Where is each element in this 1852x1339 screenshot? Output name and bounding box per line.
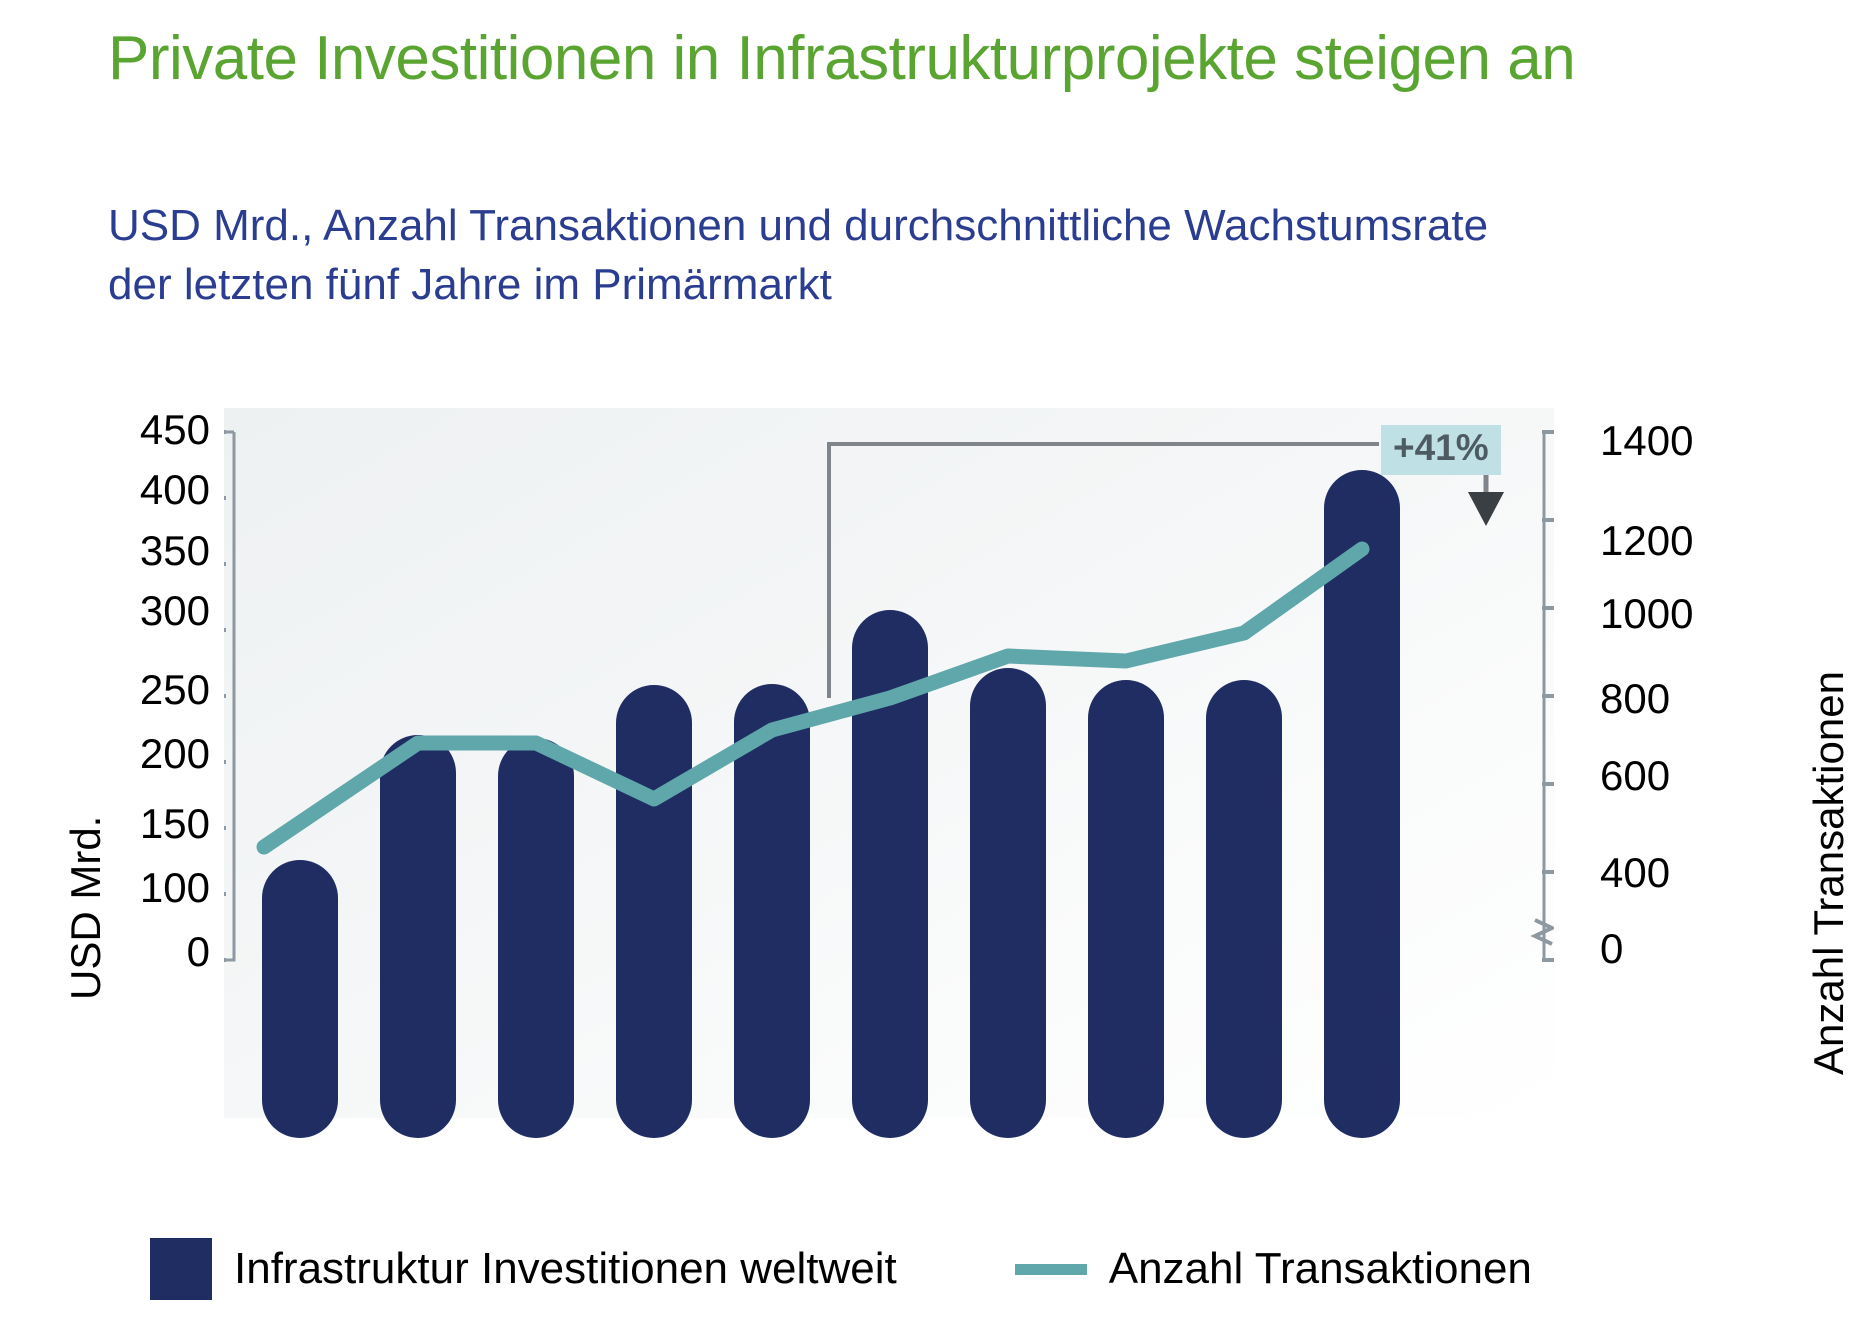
legend-item-line[interactable]: Anzahl Transaktionen — [1015, 1244, 1532, 1294]
page-title: Private Investitionen in Infrastrukturpr… — [108, 22, 1668, 95]
left-tick-300: 300 — [140, 587, 210, 635]
right-tick-1400: 1400 — [1600, 417, 1693, 465]
bar-3 — [498, 738, 574, 1138]
left-tick-100: 100 — [140, 864, 210, 912]
page-subtitle: USD Mrd., Anzahl Transaktionen und durch… — [108, 196, 1528, 315]
legend-bar-swatch-icon — [150, 1238, 212, 1300]
right-tick-0: 0 — [1600, 925, 1623, 973]
left-axis-spine — [224, 432, 234, 960]
bar-7 — [970, 668, 1046, 1138]
bar-2 — [380, 735, 456, 1138]
chart-plot-area: +41% — [224, 408, 1554, 1138]
axis-break-icon — [1535, 920, 1552, 944]
bar-4 — [616, 685, 692, 1138]
right-tick-1000: 1000 — [1600, 590, 1693, 638]
right-axis-spine — [1535, 432, 1554, 960]
chart-svg — [224, 408, 1554, 1138]
right-tick-400: 400 — [1600, 849, 1670, 897]
left-tick-0: 0 — [187, 928, 210, 976]
legend-item-bar[interactable]: Infrastruktur Investitionen weltweit — [150, 1238, 897, 1300]
left-tick-400: 400 — [140, 466, 210, 514]
legend-label-line: Anzahl Transaktionen — [1109, 1244, 1532, 1294]
left-tick-200: 200 — [140, 730, 210, 778]
bar-8 — [1088, 680, 1164, 1138]
right-axis-ticks: 1400 1200 1000 800 600 400 0 — [1600, 0, 1740, 1339]
right-tick-1200: 1200 — [1600, 517, 1693, 565]
legend-line-swatch-icon — [1015, 1264, 1087, 1275]
chart-legend: Infrastruktur Investitionen weltweit Anz… — [150, 1234, 1750, 1304]
bar-1 — [262, 860, 338, 1138]
left-tick-150: 150 — [140, 800, 210, 848]
left-axis-ticks: 450 400 350 300 250 200 150 100 0 — [100, 0, 210, 1339]
slide-canvas: Private Investitionen in Infrastrukturpr… — [0, 0, 1852, 1339]
right-tick-600: 600 — [1600, 752, 1670, 800]
legend-label-bar: Infrastruktur Investitionen weltweit — [234, 1244, 897, 1294]
growth-callout-bracket — [829, 444, 1504, 698]
left-tick-450: 450 — [140, 406, 210, 454]
growth-percent-badge: +41% — [1381, 425, 1501, 475]
left-tick-250: 250 — [140, 666, 210, 714]
left-tick-350: 350 — [140, 527, 210, 575]
down-arrow-icon — [1468, 492, 1504, 526]
bar-9 — [1206, 680, 1282, 1138]
right-tick-800: 800 — [1600, 675, 1670, 723]
right-axis-title: Anzahl Transaktionen — [1805, 671, 1852, 1075]
